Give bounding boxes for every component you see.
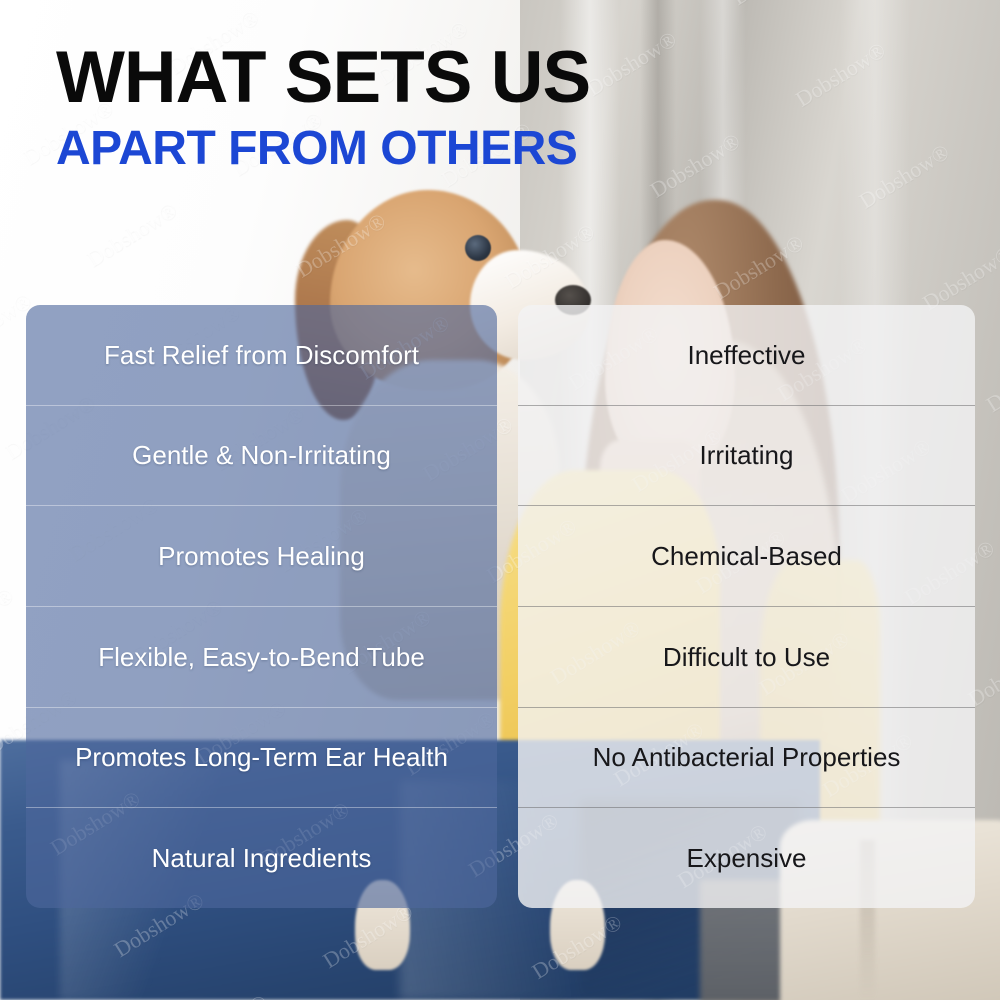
cons-panel: IneffectiveIrritatingChemical-BasedDiffi… xyxy=(518,305,975,908)
pros-row: Flexible, Easy-to-Bend Tube xyxy=(26,607,497,708)
headline-primary: WHAT SETS US xyxy=(56,44,590,111)
cons-row: Ineffective xyxy=(518,305,975,406)
cons-row: Expensive xyxy=(518,808,975,908)
cons-row: No Antibacterial Properties xyxy=(518,708,975,809)
headline-secondary: APART FROM OTHERS xyxy=(56,125,590,173)
headline-block: WHAT SETS US APART FROM OTHERS xyxy=(56,44,590,173)
pros-row: Promotes Long-Term Ear Health xyxy=(26,708,497,809)
infographic-canvas: Dobshow®Dobshow®Dobshow®Dobshow®Dobshow®… xyxy=(0,0,1000,1000)
cons-row: Difficult to Use xyxy=(518,607,975,708)
pros-row: Gentle & Non-Irritating xyxy=(26,406,497,507)
cons-row: Irritating xyxy=(518,406,975,507)
pros-panel: Fast Relief from DiscomfortGentle & Non-… xyxy=(26,305,497,908)
cons-row: Chemical-Based xyxy=(518,506,975,607)
pros-row: Promotes Healing xyxy=(26,506,497,607)
pros-row: Fast Relief from Discomfort xyxy=(26,305,497,406)
pros-row: Natural Ingredients xyxy=(26,808,497,908)
